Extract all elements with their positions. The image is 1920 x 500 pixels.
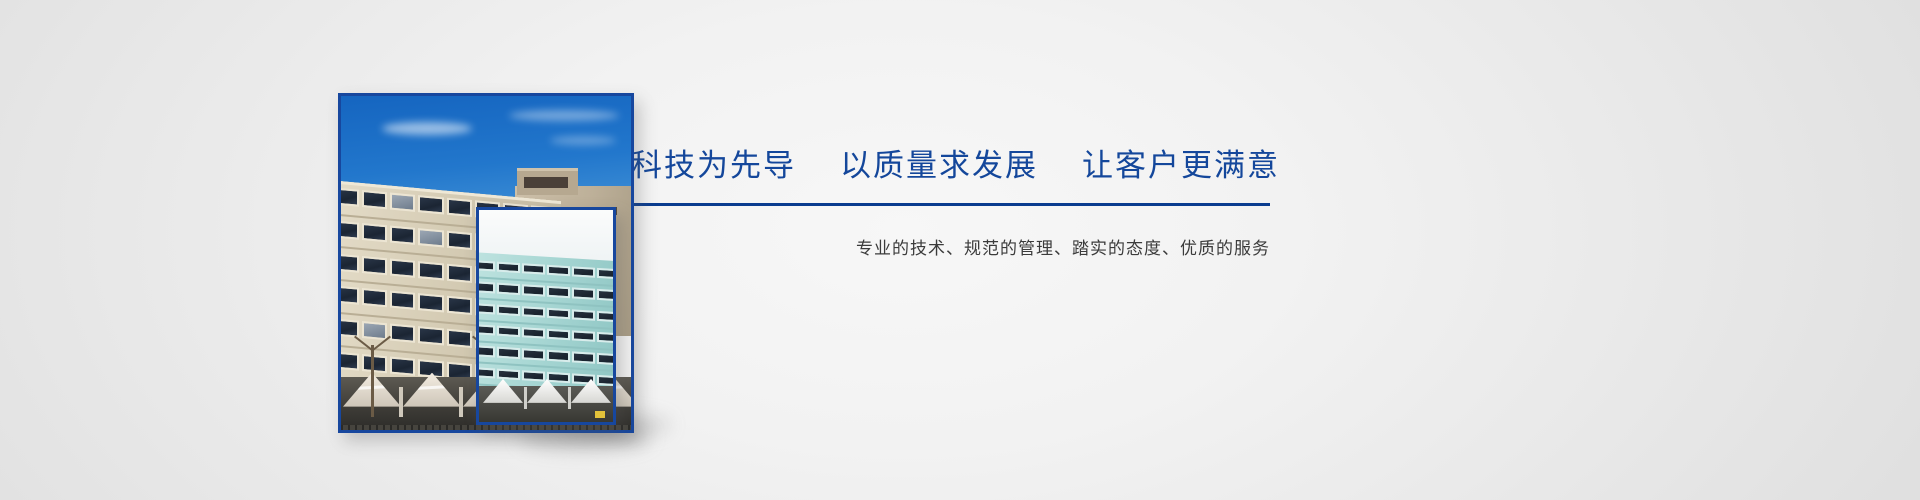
window xyxy=(572,309,595,321)
window xyxy=(447,328,472,347)
window xyxy=(447,263,472,282)
window xyxy=(522,306,545,318)
bare-tree xyxy=(371,345,374,417)
window xyxy=(390,356,415,375)
window xyxy=(597,311,616,323)
window xyxy=(476,325,495,337)
window xyxy=(522,328,545,340)
window xyxy=(338,253,359,272)
window xyxy=(362,222,387,241)
window xyxy=(597,290,616,302)
window xyxy=(547,287,570,299)
window xyxy=(572,267,595,279)
window xyxy=(522,349,545,361)
tent-pole xyxy=(568,387,571,409)
window xyxy=(497,348,520,360)
window xyxy=(547,265,570,277)
window xyxy=(572,352,595,364)
window xyxy=(390,258,415,277)
window xyxy=(338,220,359,239)
cloud-icon xyxy=(382,122,472,135)
hero-banner: 以科技为先导 以质量求发展 让客户更满意 专业的技术、规范的管理、踏实的态度、优… xyxy=(0,0,1920,500)
window xyxy=(597,332,616,344)
subtitle: 专业的技术、规范的管理、踏实的态度、优质的服务 xyxy=(610,234,1270,259)
window xyxy=(338,318,359,337)
window xyxy=(362,320,387,339)
tent-pole xyxy=(399,387,403,417)
window xyxy=(390,192,415,211)
window xyxy=(476,282,495,294)
penthouse-opening xyxy=(524,177,568,188)
cloud-icon xyxy=(550,136,616,145)
window xyxy=(522,370,545,382)
window xyxy=(447,197,472,216)
small-photo-inner xyxy=(479,210,613,422)
headline: 以科技为先导 以质量求发展 让客户更满意 xyxy=(598,140,1278,185)
window xyxy=(497,326,520,338)
window xyxy=(362,288,387,307)
window xyxy=(572,288,595,300)
window xyxy=(547,308,570,320)
headline-divider xyxy=(610,203,1270,206)
headline-segment-3: 让客户更满意 xyxy=(1082,140,1280,185)
fence xyxy=(341,425,631,430)
window xyxy=(497,262,520,274)
window xyxy=(547,329,570,341)
window xyxy=(476,367,495,379)
window xyxy=(522,285,545,297)
window xyxy=(572,331,595,343)
window xyxy=(419,293,444,312)
window xyxy=(497,283,520,295)
window xyxy=(338,351,359,370)
window xyxy=(597,354,616,366)
yellow-marker xyxy=(595,411,605,418)
window xyxy=(362,353,387,372)
window xyxy=(390,225,415,244)
tent-pole xyxy=(459,387,463,417)
window xyxy=(419,326,444,345)
cloud-icon xyxy=(509,110,619,121)
window xyxy=(447,295,472,314)
window xyxy=(390,323,415,342)
tent-pole xyxy=(524,387,527,409)
window xyxy=(419,195,444,214)
window xyxy=(362,255,387,274)
window xyxy=(497,305,520,317)
headline-segment-2: 以质量求发展 xyxy=(840,140,1038,185)
window xyxy=(522,264,545,276)
window xyxy=(419,260,444,279)
window xyxy=(547,372,570,384)
window xyxy=(390,290,415,309)
window xyxy=(497,369,520,381)
window xyxy=(338,285,359,304)
window xyxy=(476,261,495,273)
window xyxy=(362,190,387,209)
window xyxy=(338,187,359,206)
window xyxy=(447,230,472,249)
window xyxy=(547,351,570,363)
window xyxy=(419,228,444,247)
small-building-photo xyxy=(476,207,616,425)
window xyxy=(476,303,495,315)
window xyxy=(476,346,495,358)
window xyxy=(597,268,616,280)
